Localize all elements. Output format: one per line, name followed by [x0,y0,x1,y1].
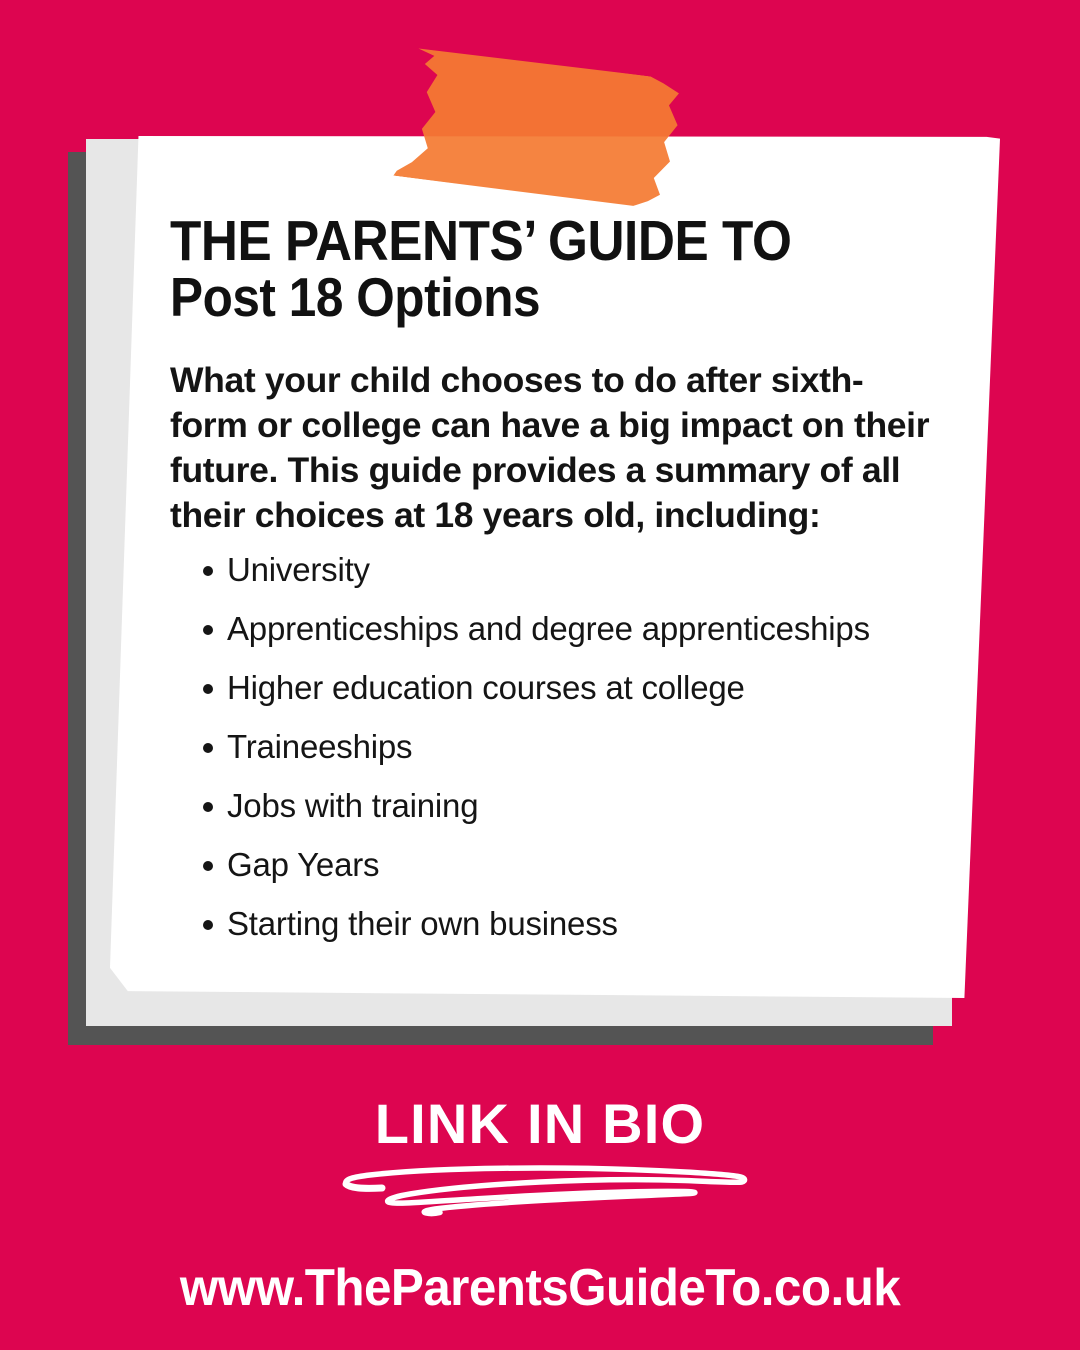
link-in-bio-text: LINK IN BIO [0,1091,1080,1156]
list-item: University [170,547,960,594]
page-title-line-1: THE PARENTS’ GUIDE TO [170,214,881,269]
list-item-label: Higher education courses at college [227,669,745,706]
list-item: Apprenticeships and degree apprenticeshi… [170,606,960,653]
list-item-label: Jobs with training [227,787,478,824]
list-item: Gap Years [170,842,960,889]
list-item: Traineeships [170,724,960,771]
intro-paragraph: What your child chooses to do after sixt… [170,358,930,537]
list-item-label: Gap Years [227,846,379,883]
list-item-label: Apprenticeships and degree apprenticeshi… [227,610,870,647]
poster-canvas: THE PARENTS’ GUIDE TO Post 18 Options Wh… [0,0,1080,1350]
list-item-label: University [227,551,370,588]
list-item: Jobs with training [170,783,960,830]
page-title-line-2: Post 18 Options [170,269,881,327]
hand-drawn-underline-icon [340,1160,750,1226]
card-content: THE PARENTS’ GUIDE TO Post 18 Options Wh… [170,214,960,959]
website-url-text: www.TheParentsGuideTo.co.uk [27,1258,1053,1318]
list-item-label: Starting their own business [227,905,618,942]
list-item-label: Traineeships [227,728,412,765]
washi-tape-icon [391,44,684,211]
list-item: Higher education courses at college [170,665,960,712]
list-item: Starting their own business [170,901,960,948]
options-list: University Apprenticeships and degree ap… [170,547,960,947]
